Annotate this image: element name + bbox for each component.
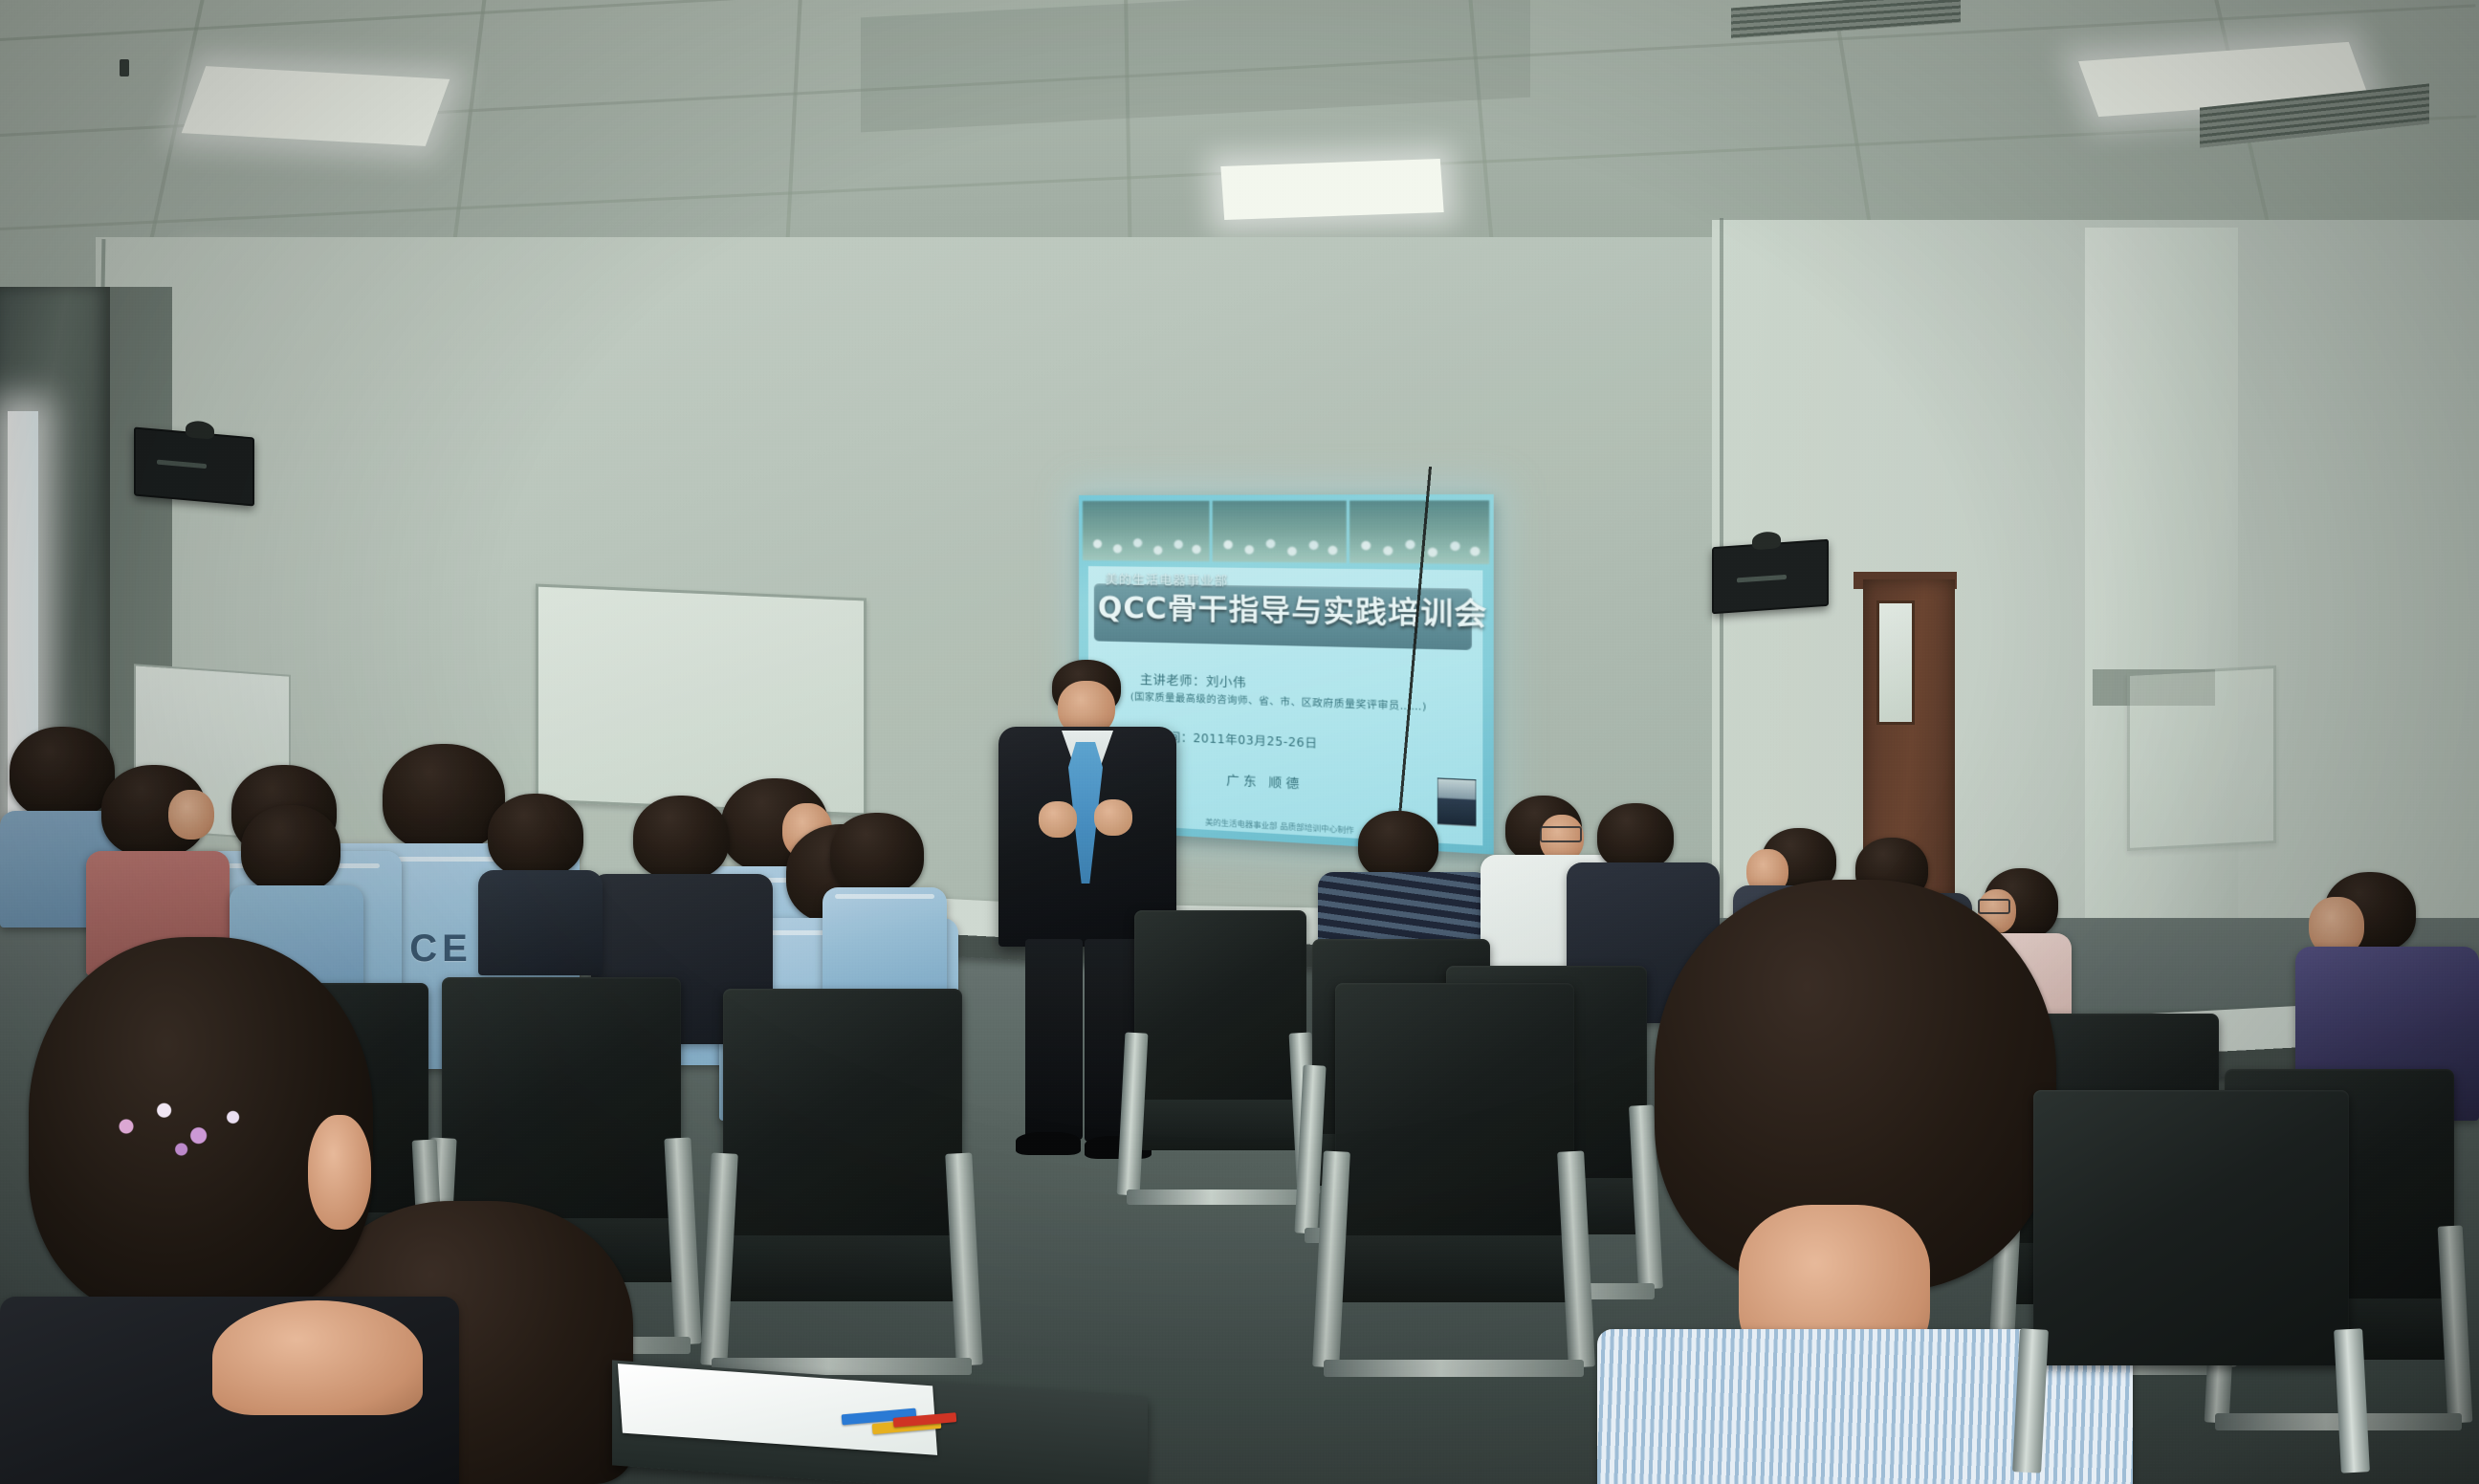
chair-back — [442, 977, 681, 1226]
chair-seat — [723, 1235, 962, 1301]
chair-back — [1134, 910, 1306, 1106]
attendee-ear — [308, 1115, 371, 1230]
chair-5[interactable] — [723, 989, 962, 1400]
chair-seat — [1134, 1100, 1306, 1150]
attendee-face — [168, 790, 214, 840]
right-wall-speaker — [1712, 539, 1829, 615]
chair-foreground-right[interactable] — [2033, 1090, 2349, 1484]
crowd-photo-2 — [1213, 501, 1346, 563]
attendee-head — [830, 813, 924, 895]
presenter-shoe-left — [1016, 1132, 1081, 1155]
attendee-left-5 — [823, 813, 947, 994]
ceiling-light-4 — [1220, 159, 1443, 220]
attendee-shoulder-skin — [212, 1300, 423, 1415]
crowd-photo-1 — [1083, 501, 1210, 561]
slide-title: QCC骨干指导与实践培训会 — [1098, 583, 1455, 633]
left-wall-speaker — [134, 426, 254, 506]
attendee-head — [241, 805, 340, 893]
attendee-left-4 — [478, 794, 603, 975]
chair-base — [1324, 1360, 1584, 1377]
crowd-photo-3 — [1349, 500, 1489, 564]
presenter-hand-right — [1094, 799, 1132, 836]
presenter-hand-left — [1039, 801, 1077, 838]
slide-location-line: 广东 顺德 — [1226, 770, 1303, 793]
training-room-photo: 美的生活电器事业部 QCC骨干指导与实践培训会 主讲老师：刘小伟 (国家质量最高… — [0, 0, 2479, 1484]
floral-hair-clip — [92, 1069, 264, 1184]
chair-back — [723, 989, 962, 1244]
presenter-leg-left — [1025, 939, 1083, 1140]
chair-6[interactable] — [1335, 983, 1574, 1404]
sprinkler-head-icon — [120, 59, 129, 76]
attendee-torso — [823, 887, 947, 994]
chair-1[interactable] — [1134, 910, 1306, 1226]
side-panel — [2127, 666, 2276, 851]
chair-back — [1335, 983, 1574, 1244]
attendee-woman-floral-clip — [0, 937, 459, 1484]
door-window — [1876, 600, 1915, 725]
chair-back — [2033, 1090, 2349, 1365]
chair-frame — [2012, 1328, 2049, 1473]
chair-base — [1127, 1189, 1314, 1205]
ceiling-light-1 — [182, 66, 450, 146]
attendee-head — [1597, 803, 1674, 870]
attendee-head — [633, 796, 729, 880]
slide-photo-strip — [1083, 500, 1489, 564]
chair-seat — [1335, 1235, 1574, 1302]
attendee-torso — [478, 870, 603, 975]
attendee-head — [488, 794, 583, 878]
attendee-head — [1358, 811, 1438, 880]
